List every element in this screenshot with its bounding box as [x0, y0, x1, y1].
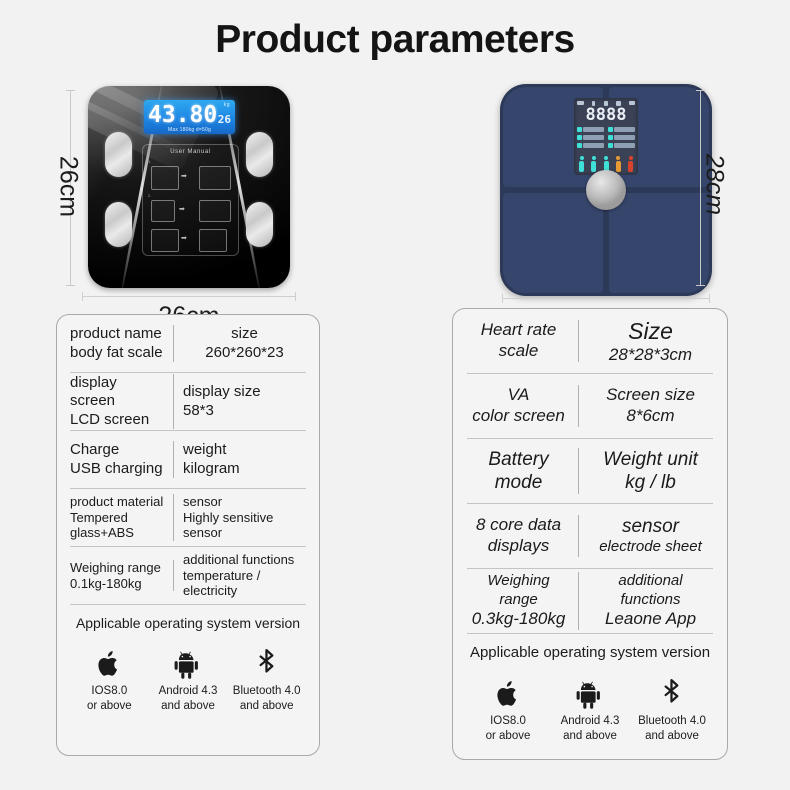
- spec-table-right: Heart rate scale Size 28*28*3cm VA color…: [453, 309, 727, 744]
- spec-text: electrode sheet: [588, 538, 713, 556]
- spec-text: 8 core data: [467, 515, 570, 536]
- page-title: Product parameters: [0, 18, 790, 62]
- table-row: Battery mode Weight unit kg / lb: [467, 439, 713, 504]
- spec-text: Tempered glass+ABS: [70, 510, 165, 542]
- spec-value-cell: additional functions temperature / elect…: [174, 552, 306, 600]
- metric-value-bar: [583, 135, 604, 140]
- lcd-secondary-value: 26: [218, 113, 231, 126]
- metric-value-bar: [614, 135, 635, 140]
- metric-cell: [608, 143, 635, 148]
- spec-text: Size: [588, 317, 713, 345]
- spec-text: Battery: [467, 448, 570, 471]
- bluetooth-icon: [632, 670, 712, 710]
- spec-card-navy-scale: Heart rate scale Size 28*28*3cm VA color…: [452, 308, 728, 760]
- spec-value-cell: sensor Highly sensitive sensor: [174, 494, 306, 542]
- spec-value-cell: Weight unit kg / lb: [579, 448, 713, 494]
- os-caption: Android 4.3 and above: [149, 684, 228, 714]
- spec-text: display size: [183, 383, 306, 401]
- display-metric-row: [577, 135, 635, 140]
- metric-cell: [608, 135, 635, 140]
- os-caption-line: and above: [550, 729, 630, 744]
- os-caption: IOS8.0 or above: [468, 714, 548, 744]
- os-caption-line: or above: [468, 729, 548, 744]
- spec-text: color screen: [467, 406, 570, 427]
- spec-text: body fat scale: [70, 344, 165, 362]
- os-caption-line: IOS8.0: [468, 714, 548, 729]
- spec-value-cell: Screen size 8*6cm: [579, 385, 713, 426]
- body-figure-icon: [590, 156, 597, 172]
- spec-label-cell: Heart rate scale: [467, 320, 579, 361]
- bluetooth-icon: [227, 640, 306, 680]
- spec-value-cell: size 260*260*23: [174, 325, 306, 362]
- table-row: product material Tempered glass+ABS sens…: [70, 489, 306, 547]
- os-caption-line: Android 4.3: [149, 684, 228, 699]
- os-caption: Bluetooth 4.0 and above: [632, 714, 712, 744]
- electrode-pad-bottom-right: [246, 202, 273, 247]
- os-block-title: Applicable operating system version: [70, 615, 306, 631]
- spec-text: Heart rate: [467, 320, 570, 341]
- spec-text: Charge: [70, 441, 165, 459]
- width-guide-line-right: [502, 298, 710, 299]
- os-item-bluetooth: Bluetooth 4.0 and above: [632, 670, 712, 744]
- manual-arrow-1: ➡: [181, 173, 187, 180]
- os-caption: Bluetooth 4.0 and above: [227, 684, 306, 714]
- spec-text: kg / lb: [588, 471, 713, 494]
- spec-text: LCD screen: [70, 411, 165, 429]
- display-metric-row: [577, 143, 635, 148]
- spec-text: Weighing range: [467, 572, 570, 609]
- apple-icon: [468, 670, 548, 710]
- spec-value-cell: sensor electrode sheet: [579, 515, 713, 556]
- product-image-black-scale: 26cm 43.80 kg 26 Max 180kg d=50g User Ma…: [60, 84, 320, 314]
- spec-label-cell: product material Tempered glass+ABS: [70, 494, 174, 542]
- spec-text: sensor: [588, 515, 713, 538]
- spec-text: additional functions: [588, 572, 713, 609]
- spec-text: mode: [467, 471, 570, 494]
- metric-value-bar: [614, 143, 635, 148]
- os-compatibility-block-right: Applicable operating system version IOS8…: [467, 634, 713, 744]
- manual-figure-2a: [151, 200, 175, 222]
- manual-step-1-label: 1.: [148, 159, 151, 164]
- manual-figure-1a: [151, 166, 179, 190]
- spec-value-cell: weight kilogram: [174, 441, 306, 478]
- spec-text: product material: [70, 494, 165, 510]
- metric-cell: [577, 135, 604, 140]
- spec-label-cell: 8 core data displays: [467, 515, 579, 556]
- spec-table-left: product name body fat scale size 260*260…: [57, 315, 319, 714]
- va-color-display: 8888: [574, 98, 638, 175]
- metric-icon: [608, 135, 613, 140]
- spec-text: 58*3: [183, 402, 306, 420]
- spec-text: 260*260*23: [183, 344, 306, 362]
- lcd-capacity-text: Max 180kg d=50g: [144, 127, 235, 133]
- spec-text: displays: [467, 536, 570, 557]
- apple-icon: [70, 640, 149, 680]
- spec-text: 0.1kg-180kg: [70, 576, 165, 592]
- metric-icon: [577, 135, 582, 140]
- display-weight-digits: 8888: [574, 107, 638, 124]
- manual-step-2-label: 2.: [148, 193, 151, 198]
- manual-figure-3a: [151, 229, 179, 252]
- os-caption-line: and above: [149, 699, 228, 714]
- os-caption: IOS8.0 or above: [70, 684, 149, 714]
- display-metric-rows: [577, 127, 635, 151]
- electrode-pad-bottom-left: [105, 202, 132, 247]
- spec-label-cell: display screen LCD screen: [70, 374, 174, 429]
- os-caption-line: or above: [70, 699, 149, 714]
- spec-text: Leaone App: [588, 609, 713, 630]
- table-row: Weighing range 0.1kg-180kg additional fu…: [70, 547, 306, 605]
- table-row: product name body fat scale size 260*260…: [70, 315, 306, 373]
- body-figure-icon: [578, 156, 585, 172]
- spec-text: size: [183, 325, 306, 343]
- height-dimension-label-right: 28cm: [700, 145, 729, 225]
- spec-card-black-scale: product name body fat scale size 260*260…: [56, 314, 320, 756]
- os-caption: Android 4.3 and above: [550, 714, 630, 744]
- spec-value-cell: additional functions Leaone App: [579, 572, 713, 629]
- table-row: VA color screen Screen size 8*6cm: [467, 374, 713, 439]
- lcd-unit-label: kg: [224, 102, 230, 108]
- spec-text: temperature / electricity: [183, 568, 306, 600]
- metric-cell: [608, 127, 635, 132]
- spec-text: 8*6cm: [588, 406, 713, 427]
- lcd-display: 43.80 kg 26 Max 180kg d=50g: [144, 100, 235, 134]
- spec-value-cell: display size 58*3: [174, 383, 306, 420]
- os-caption-line: and above: [632, 729, 712, 744]
- os-caption-line: Android 4.3: [550, 714, 630, 729]
- product-image-navy-scale: 8888: [478, 78, 738, 314]
- os-caption-line: IOS8.0: [70, 684, 149, 699]
- display-metric-row: [577, 127, 635, 132]
- scale-quadrant-bottom-right: [609, 193, 709, 293]
- android-icon: [149, 640, 228, 680]
- spec-label-cell: Weighing range 0.1kg-180kg: [70, 560, 174, 592]
- os-caption-line: Bluetooth 4.0: [227, 684, 306, 699]
- os-item-bluetooth: Bluetooth 4.0 and above: [227, 640, 306, 714]
- manual-figure-2b: [199, 200, 231, 222]
- metric-icon: [577, 127, 582, 132]
- table-row: Heart rate scale Size 28*28*3cm: [467, 309, 713, 374]
- os-block-title: Applicable operating system version: [467, 644, 713, 661]
- spec-label-cell: product name body fat scale: [70, 325, 174, 362]
- spec-text: kilogram: [183, 460, 306, 478]
- table-row: Charge USB charging weight kilogram: [70, 431, 306, 489]
- metric-cell: [577, 143, 604, 148]
- height-dimension-label-left: 26cm: [54, 147, 83, 227]
- spec-text: sensor: [183, 494, 306, 510]
- spec-text: VA: [467, 385, 570, 406]
- scale-quadrant-bottom-left: [503, 193, 603, 293]
- spec-text: weight: [183, 441, 306, 459]
- black-scale-body: 43.80 kg 26 Max 180kg d=50g User Manual …: [88, 86, 290, 288]
- body-figure-icon: [615, 156, 622, 172]
- os-item-android: Android 4.3 and above: [550, 670, 630, 744]
- battery-icon: [577, 101, 584, 105]
- os-caption-line: and above: [227, 699, 306, 714]
- metric-cell: [577, 127, 604, 132]
- spec-text: Weighing range: [70, 560, 165, 576]
- electrode-pad-top-left: [105, 132, 132, 177]
- spec-text: Weight unit: [588, 448, 713, 471]
- spec-text: Highly sensitive sensor: [183, 510, 306, 542]
- user-manual-title: User Manual: [143, 149, 238, 155]
- spec-text: Screen size: [588, 385, 713, 406]
- spec-text: 28*28*3cm: [588, 345, 713, 366]
- metric-value-bar: [583, 143, 604, 148]
- table-row: Weighing range 0.3kg-180kg additional fu…: [467, 569, 713, 634]
- os-compatibility-block-left: Applicable operating system version IOS8…: [70, 605, 306, 714]
- os-caption-line: Bluetooth 4.0: [632, 714, 712, 729]
- os-icon-row: IOS8.0 or above: [70, 640, 306, 714]
- metric-icon: [608, 143, 613, 148]
- spec-label-cell: Weighing range 0.3kg-180kg: [467, 572, 579, 629]
- electrode-pad-top-right: [246, 132, 273, 177]
- metric-value-bar: [583, 127, 604, 132]
- product-parameters-page: Product parameters 26cm 43.80 kg 26 Max …: [0, 0, 790, 790]
- spec-label-cell: Battery mode: [467, 448, 579, 494]
- os-item-android: Android 4.3 and above: [149, 640, 228, 714]
- unit-icon: [629, 101, 635, 105]
- manual-figure-1b: [199, 166, 231, 190]
- spec-text: USB charging: [70, 460, 165, 478]
- os-item-ios: IOS8.0 or above: [70, 640, 149, 714]
- android-icon: [550, 670, 630, 710]
- os-icon-row: IOS8.0 or above: [467, 670, 713, 744]
- os-item-ios: IOS8.0 or above: [468, 670, 548, 744]
- metric-icon: [608, 127, 613, 132]
- spec-label-cell: VA color screen: [467, 385, 579, 426]
- manual-arrow-3: ➡: [181, 235, 187, 242]
- spec-text: display screen: [70, 374, 165, 411]
- manual-figure-3b: [199, 229, 227, 252]
- manual-arrow-2: ➡: [179, 206, 185, 213]
- center-button: [586, 170, 626, 210]
- spec-value-cell: Size 28*28*3cm: [579, 317, 713, 366]
- metric-icon: [577, 143, 582, 148]
- width-guide-line-left: [82, 296, 296, 297]
- table-row: 8 core data displays sensor electrode sh…: [467, 504, 713, 569]
- table-row: display screen LCD screen display size 5…: [70, 373, 306, 431]
- body-figure-icon: [627, 156, 634, 172]
- navy-scale-body: 8888: [500, 84, 712, 296]
- spec-text: 0.3kg-180kg: [467, 609, 570, 630]
- spec-text: additional functions: [183, 552, 306, 568]
- user-manual-panel: User Manual 1. ➡ 2. ➡ ➡: [142, 144, 239, 256]
- spec-text: scale: [467, 341, 570, 362]
- lcd-weight-value: 43.80: [148, 102, 217, 128]
- metric-value-bar: [614, 127, 635, 132]
- spec-text: product name: [70, 325, 165, 343]
- spec-label-cell: Charge USB charging: [70, 441, 174, 478]
